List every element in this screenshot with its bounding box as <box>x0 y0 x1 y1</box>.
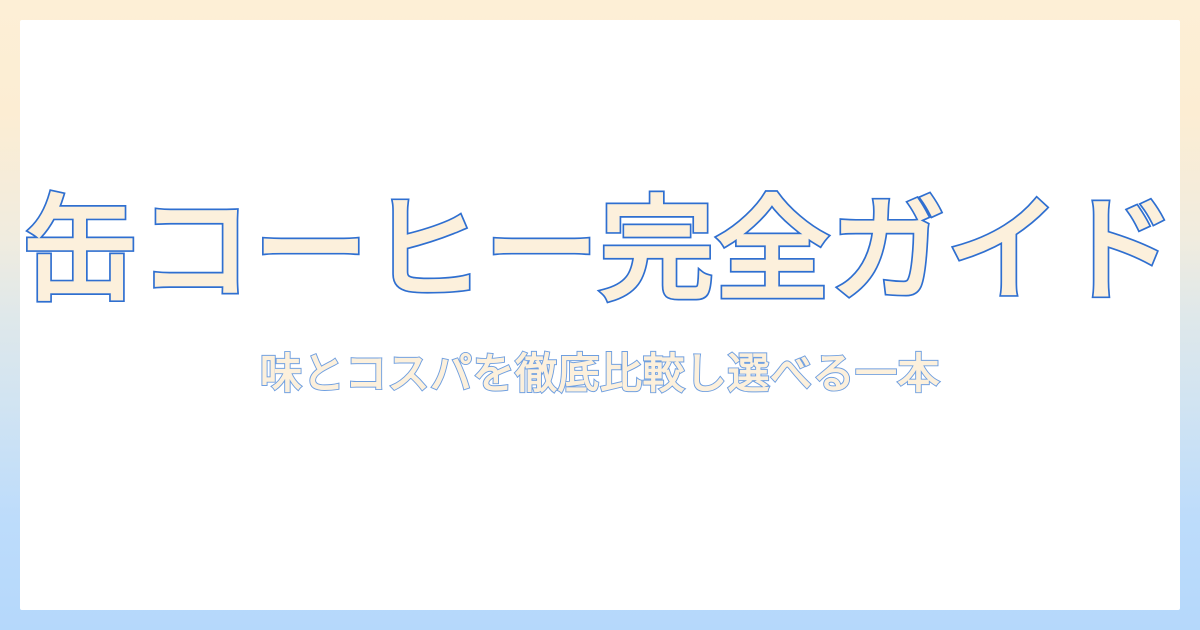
page-subtitle: 味とコスパを徹底比較し選べる一本 <box>260 349 940 399</box>
subtitle-container: 味とコスパを徹底比較し選べる一本 <box>20 349 1180 399</box>
card-content-stack: 缶コーヒー完全ガイド 味とコスパを徹底比較し選べる一本 <box>20 187 1180 399</box>
page-title: 缶コーヒー完全ガイド <box>23 187 1177 315</box>
title-container: 缶コーヒー完全ガイド <box>20 187 1180 315</box>
poster-canvas: 缶コーヒー完全ガイド 味とコスパを徹底比較し選べる一本 <box>0 0 1200 630</box>
content-card: 缶コーヒー完全ガイド 味とコスパを徹底比較し選べる一本 <box>20 20 1180 610</box>
